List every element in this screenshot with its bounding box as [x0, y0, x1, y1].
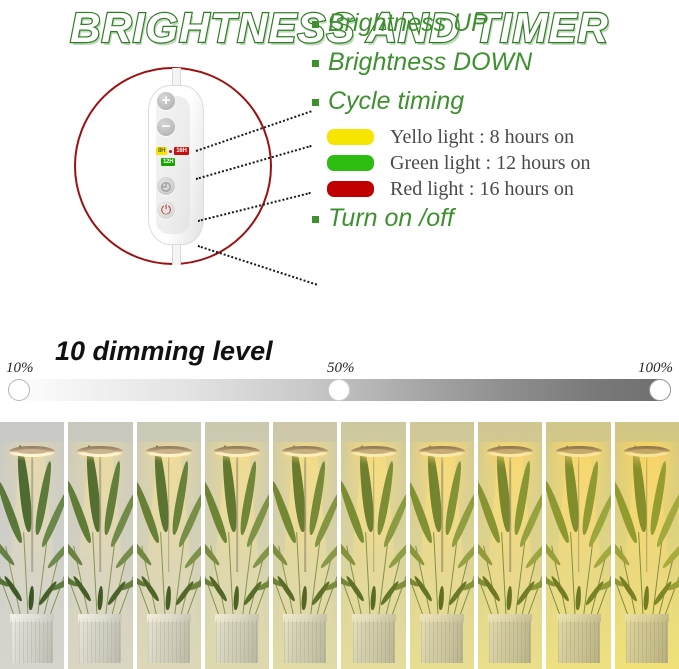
- brightness-sample-panel: [273, 422, 337, 669]
- badge-12h: 12H: [161, 158, 175, 166]
- callout-label: Turn on /off: [328, 203, 454, 233]
- dimming-handle-100[interactable]: [649, 379, 671, 401]
- legend-label: Green light : 12 hours on: [390, 152, 591, 175]
- callout-label: Brightness UP: [328, 8, 488, 38]
- callout-label: Cycle timing: [328, 86, 464, 116]
- dimming-min-label: 10%: [6, 360, 34, 377]
- timer-badges-top: 8H 16H: [156, 147, 189, 155]
- bullet-square-icon: [312, 60, 319, 67]
- brightness-down-button[interactable]: −: [157, 118, 175, 136]
- brightness-sample-panel: [68, 422, 132, 669]
- brightness-sample-panel: [341, 422, 405, 669]
- remote-controller: + − 8H 16H 12H ◴ ⏻: [148, 85, 204, 245]
- warm-light-overlay: [273, 422, 337, 669]
- legend-swatch-green: [327, 155, 374, 171]
- brightness-sample-panel: [615, 422, 679, 669]
- clock-icon: ◴: [157, 177, 175, 195]
- power-icon: ⏻: [157, 201, 175, 219]
- bullet-square-icon: [312, 21, 319, 28]
- legend-label: Yello light : 8 hours on: [390, 126, 574, 149]
- dimming-title: 10 dimming level: [55, 336, 273, 367]
- callout-turn-on-off: Turn on /off: [312, 203, 672, 242]
- cable-bottom: [172, 243, 181, 265]
- legend-row-green: Green light : 12 hours on: [327, 150, 677, 176]
- warm-light-overlay: [546, 422, 610, 669]
- indicator-dot-icon: [169, 150, 172, 153]
- warm-light-overlay: [205, 422, 269, 669]
- leader-line-turn-on-off: [198, 245, 318, 286]
- warm-light-overlay: [478, 422, 542, 669]
- dimming-handle-10[interactable]: [8, 379, 30, 401]
- legend-swatch-yellow: [327, 129, 374, 145]
- callout-brightness-down: Brightness DOWN: [312, 47, 672, 86]
- warm-light-overlay: [341, 422, 405, 669]
- warm-light-overlay: [137, 422, 201, 669]
- callout-cycle-timing: Cycle timing: [312, 86, 672, 125]
- callout-label: Brightness DOWN: [328, 47, 532, 77]
- dimming-mid-label: 50%: [327, 360, 355, 377]
- brightness-up-button[interactable]: +: [157, 92, 175, 110]
- callout-brightness-up: Brightness UP: [312, 8, 672, 47]
- legend-label: Red light : 16 hours on: [390, 178, 574, 201]
- brightness-sample-panel: [0, 422, 64, 669]
- timer-color-legend: Yello light : 8 hours on Green light : 1…: [327, 124, 677, 202]
- legend-row-red: Red light : 16 hours on: [327, 176, 677, 202]
- bullet-square-icon: [312, 99, 319, 106]
- dimming-max-label: 100%: [638, 360, 673, 377]
- brightness-sample-panel: [546, 422, 610, 669]
- plus-icon: +: [157, 92, 175, 110]
- minus-icon: −: [157, 118, 175, 136]
- warm-light-overlay: [68, 422, 132, 669]
- power-button[interactable]: ⏻: [157, 201, 175, 219]
- brightness-sample-panel: [205, 422, 269, 669]
- brightness-sample-panel: [410, 422, 474, 669]
- dimming-handle-50[interactable]: [328, 379, 350, 401]
- timer-badges-bottom: 12H: [161, 158, 175, 166]
- badge-8h: 8H: [156, 147, 167, 155]
- dimming-slider-track[interactable]: [8, 379, 671, 401]
- warm-light-overlay: [0, 422, 64, 669]
- brightness-sample-panel: [478, 422, 542, 669]
- cycle-timer-button[interactable]: ◴: [157, 177, 175, 195]
- badge-16h: 16H: [174, 147, 188, 155]
- brightness-sample-panel: [137, 422, 201, 669]
- warm-light-overlay: [615, 422, 679, 669]
- warm-light-overlay: [410, 422, 474, 669]
- legend-swatch-red: [327, 181, 374, 197]
- brightness-sample-grid: [0, 422, 679, 669]
- bullet-square-icon: [312, 216, 319, 223]
- legend-row-yellow: Yello light : 8 hours on: [327, 124, 677, 150]
